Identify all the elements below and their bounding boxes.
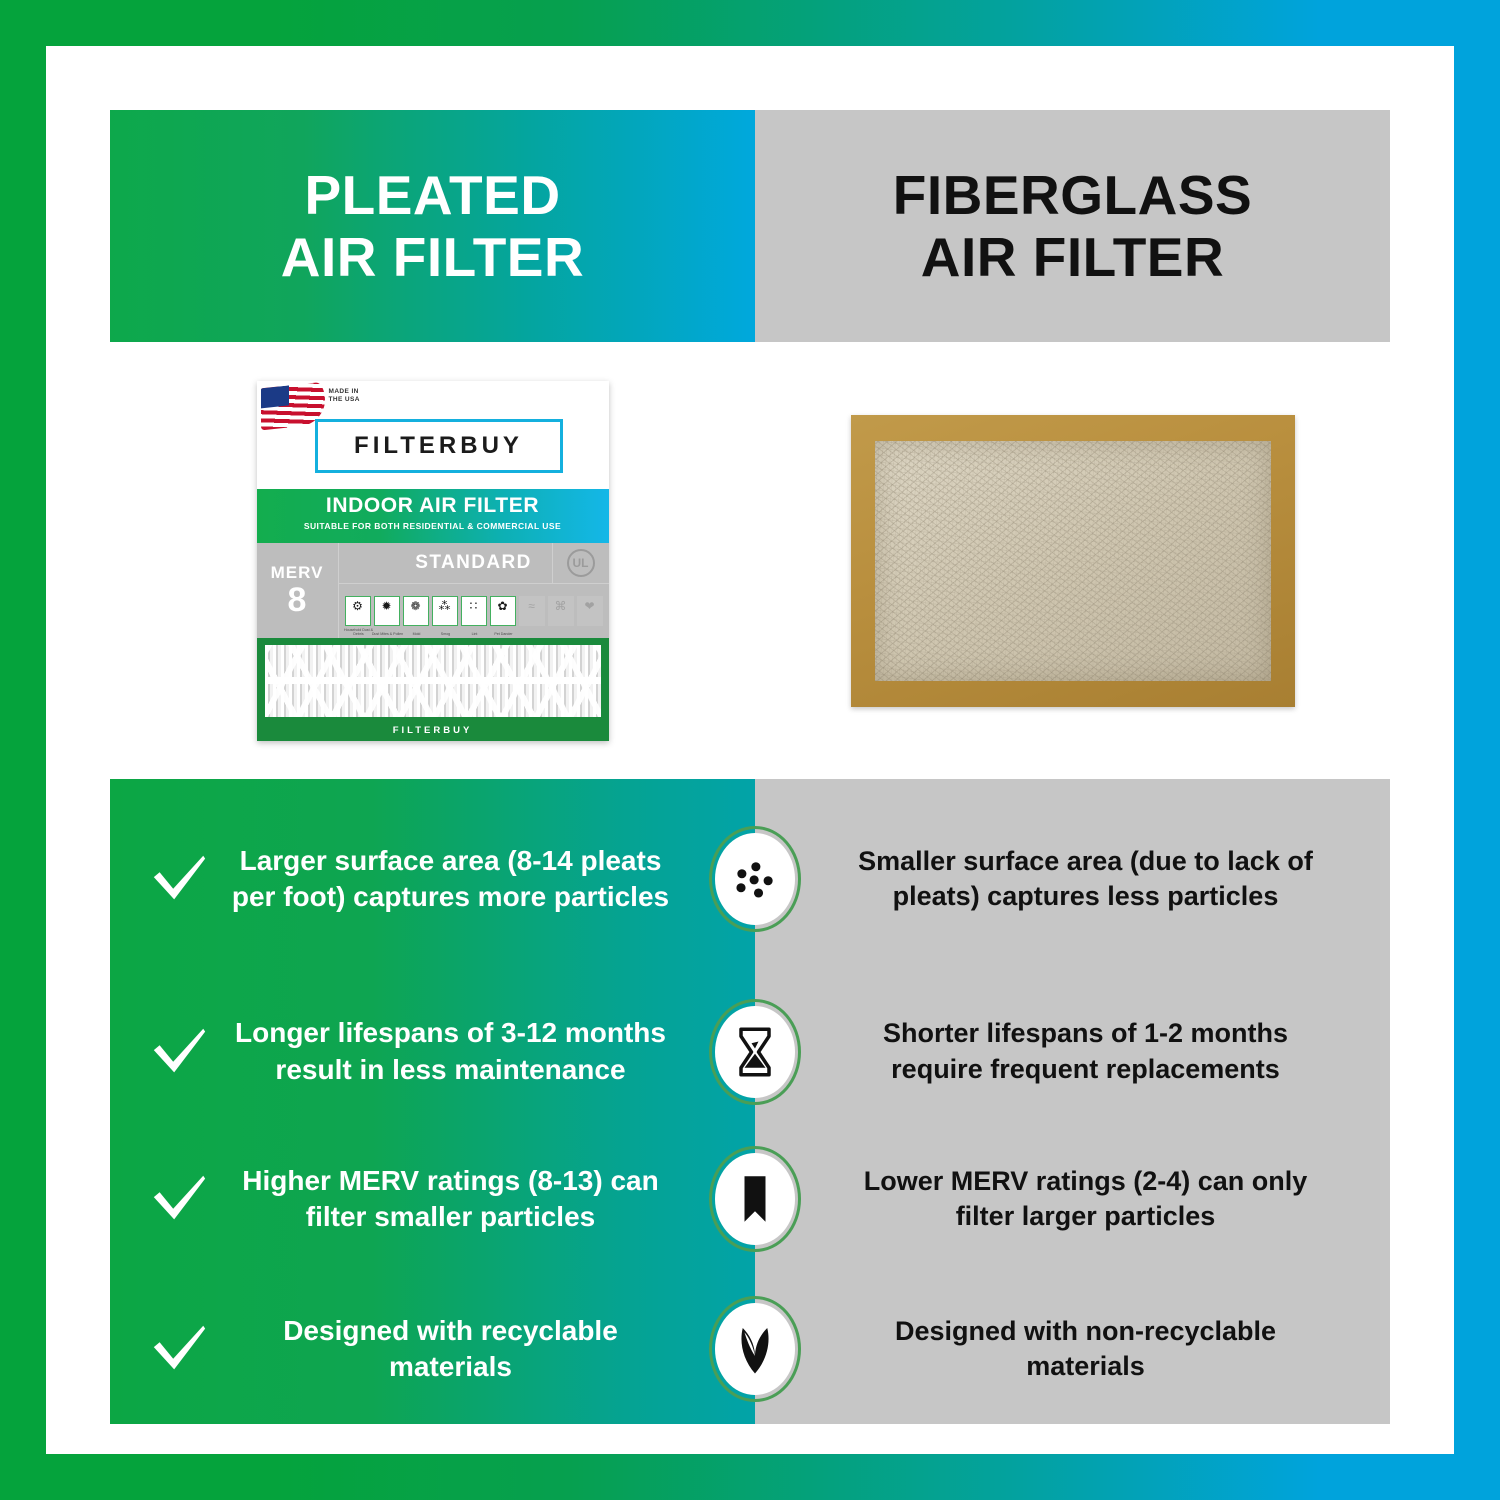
- medallion-2: [709, 1146, 801, 1252]
- comparison-row-3-left-text: Designed with recyclable materials: [222, 1313, 731, 1386]
- pleated-product-cell: MADE IN THE USA FILTERBUY INDOOR AIR FIL…: [110, 342, 755, 779]
- support-center-bar: [265, 677, 601, 684]
- virus-icon: ❤: [584, 600, 594, 612]
- check-icon-1: [136, 1021, 222, 1083]
- capture-tile-2: ❁Mold: [403, 596, 429, 626]
- capture-tile-4: ∷Lint: [461, 596, 487, 626]
- capture-tile-3: ⁂Smog: [432, 596, 458, 626]
- header-pleated-title: PLEATED AIR FILTER: [281, 164, 584, 288]
- comparison-row-0-left: Larger surface area (8-14 pleats per foo…: [110, 779, 755, 979]
- check-icon-3: [136, 1318, 222, 1380]
- header-pleated: PLEATED AIR FILTER: [110, 110, 755, 342]
- capture-tile-8: ❤: [577, 596, 603, 626]
- comparison-table: Larger surface area (8-14 pleats per foo…: [110, 779, 1390, 1424]
- header-fiberglass: FIBERGLASS AIR FILTER: [755, 110, 1390, 342]
- band-title: INDOOR AIR FILTER: [257, 494, 609, 518]
- outer-gradient-border: PLEATED AIR FILTER FIBERGLASS AIR FILTER: [0, 0, 1500, 1500]
- box-spec-right: STANDARD UL ⚙Household Dust & Debris ✹Du…: [339, 543, 609, 638]
- comparison-row-3-right-text: Designed with non-recyclable materials: [851, 1314, 1320, 1384]
- header-pleated-line2: AIR FILTER: [281, 226, 584, 288]
- band-subtitle: SUITABLE FOR BOTH RESIDENTIAL & COMMERCI…: [257, 521, 609, 531]
- capture-tile-1: ✹Dust Mites & Pollen: [374, 596, 400, 626]
- ul-mark-icon: UL: [567, 549, 595, 577]
- merv-block: MERV 8: [257, 543, 339, 638]
- header-fiberglass-title: FIBERGLASS AIR FILTER: [893, 164, 1252, 288]
- header-fiberglass-line2: AIR FILTER: [893, 226, 1252, 288]
- fiberglass-media-texture: [875, 441, 1271, 681]
- comparison-row-3: Designed with recyclable materials Desig…: [110, 1274, 1390, 1424]
- filterbuy-box: MADE IN THE USA FILTERBUY INDOOR AIR FIL…: [257, 381, 609, 741]
- comparison-row-0-left-text: Larger surface area (8-14 pleats per foo…: [222, 843, 731, 916]
- pet-dander-icon: ✿: [497, 600, 507, 612]
- vacuum-icon: ⚙: [352, 600, 363, 612]
- flag-canton: [261, 385, 289, 408]
- box-spec-section: MERV 8 STANDARD UL ⚙Household D: [257, 543, 609, 638]
- filterbuy-logo: FILTERBUY: [315, 419, 563, 473]
- fiberglass-product-cell: [755, 342, 1390, 779]
- comparison-infographic: PLEATED AIR FILTER FIBERGLASS AIR FILTER: [110, 110, 1390, 1395]
- indoor-air-filter-band: INDOOR AIR FILTER SUITABLE FOR BOTH RESI…: [257, 489, 609, 543]
- comparison-row-2-left: Higher MERV ratings (8-13) can filter sm…: [110, 1124, 755, 1274]
- header-fiberglass-line1: FIBERGLASS: [893, 164, 1252, 226]
- header-row: PLEATED AIR FILTER FIBERGLASS AIR FILTER: [110, 110, 1390, 342]
- check-icon-2: [136, 1168, 222, 1230]
- pleated-media-texture: [265, 645, 601, 717]
- grade-label: STANDARD: [415, 552, 531, 574]
- medallion-0: [709, 826, 801, 932]
- medallion-3: [709, 1296, 801, 1402]
- made-in-line2: THE USA: [329, 396, 360, 405]
- leaf-icon: [727, 1321, 783, 1377]
- bookmark-icon: [727, 1171, 783, 1227]
- hourglass-icon: [727, 1024, 783, 1080]
- smog-icon: ⁂: [439, 600, 451, 612]
- comparison-row-0-right-text: Smaller surface area (due to lack of ple…: [851, 844, 1320, 914]
- medallion-1: [709, 999, 801, 1105]
- ul-certification: UL: [552, 543, 609, 583]
- fiberglass-filter-image: [851, 415, 1295, 707]
- capture-caption-5: Pet Dander: [487, 632, 521, 636]
- grade-row: STANDARD UL: [339, 543, 609, 584]
- comparison-row-2-right-text: Lower MERV ratings (2-4) can only filter…: [851, 1164, 1320, 1234]
- capture-tile-5: ✿Pet Dander: [490, 596, 516, 626]
- filterbuy-logo-text: FILTERBUY: [354, 432, 523, 460]
- particles-icon: [727, 851, 783, 907]
- bacteria-icon: ⌘: [555, 600, 567, 612]
- comparison-row-2: Higher MERV ratings (8-13) can filter sm…: [110, 1124, 1390, 1274]
- smoke-icon: ≈: [528, 600, 535, 612]
- comparison-row-1-right-text: Shorter lifespans of 1-2 months require …: [851, 1016, 1320, 1086]
- header-pleated-line1: PLEATED: [304, 164, 560, 226]
- lint-icon: ∷: [470, 600, 478, 612]
- merv-value: 8: [288, 583, 307, 617]
- comparison-row-2-right: Lower MERV ratings (2-4) can only filter…: [755, 1124, 1390, 1274]
- pleated-media-panel: FILTERBUY: [257, 638, 609, 741]
- made-in-usa-text: MADE IN THE USA: [329, 388, 360, 406]
- capture-tile-7: ⌘: [548, 596, 574, 626]
- check-icon-0: [136, 848, 222, 910]
- comparison-row-1-left: Longer lifespans of 3-12 months result i…: [110, 979, 755, 1124]
- product-image-row: MADE IN THE USA FILTERBUY INDOOR AIR FIL…: [110, 342, 1390, 779]
- comparison-row-1-left-text: Longer lifespans of 3-12 months result i…: [222, 1015, 731, 1088]
- capture-tile-6: ≈: [519, 596, 545, 626]
- comparison-row-0: Larger surface area (8-14 pleats per foo…: [110, 779, 1390, 979]
- capture-tile-0: ⚙Household Dust & Debris: [345, 596, 371, 626]
- pollen-icon: ✹: [381, 600, 391, 612]
- mold-icon: ❁: [410, 600, 420, 612]
- made-in-line1: MADE IN: [329, 388, 360, 397]
- comparison-row-1-right: Shorter lifespans of 1-2 months require …: [755, 979, 1390, 1124]
- box-top-section: MADE IN THE USA FILTERBUY: [257, 381, 609, 489]
- comparison-row-3-right: Designed with non-recyclable materials: [755, 1274, 1390, 1424]
- comparison-row-2-left-text: Higher MERV ratings (8-13) can filter sm…: [222, 1163, 731, 1236]
- comparison-row-1: Longer lifespans of 3-12 months result i…: [110, 979, 1390, 1124]
- comparison-row-0-right: Smaller surface area (due to lack of ple…: [755, 779, 1390, 979]
- box-footer-brand: FILTERBUY: [257, 725, 609, 736]
- merv-label: MERV: [271, 563, 324, 583]
- capture-icon-row: ⚙Household Dust & Debris ✹Dust Mites & P…: [339, 584, 609, 638]
- comparison-row-3-left: Designed with recyclable materials: [110, 1274, 755, 1424]
